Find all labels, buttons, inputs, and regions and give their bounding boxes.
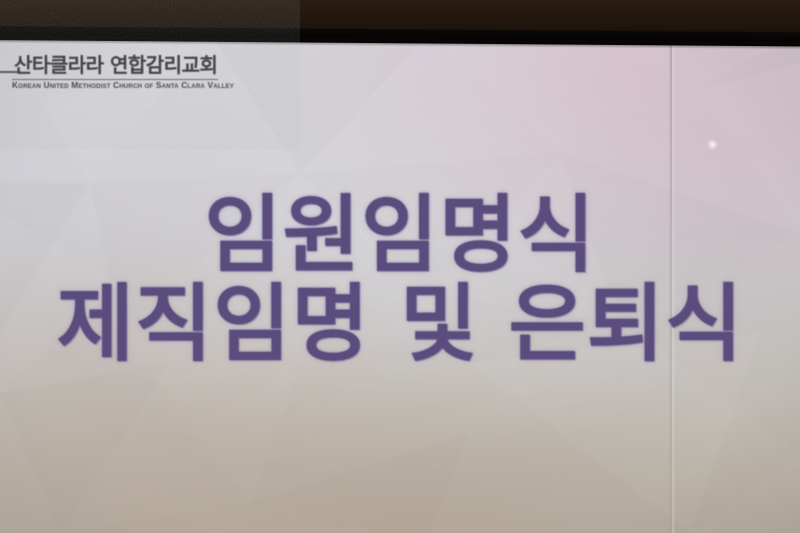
logo-divider-rule: [12, 79, 218, 80]
screen-panel-seam-highlight: [672, 33, 674, 533]
logo-korean-name: 산타클라라 연합감리교회: [14, 55, 217, 75]
projector-hotspot-and-vignette: [0, 33, 800, 533]
screenshot-root: 산타클라라 연합감리교회 Korean United Methodist Chu…: [0, 0, 800, 533]
logo-english-name: Korean United Methodist Church of Santa …: [12, 81, 234, 91]
projection-screen: 산타클라라 연합감리교회 Korean United Methodist Chu…: [0, 33, 800, 533]
specular-highlight: [706, 140, 719, 149]
